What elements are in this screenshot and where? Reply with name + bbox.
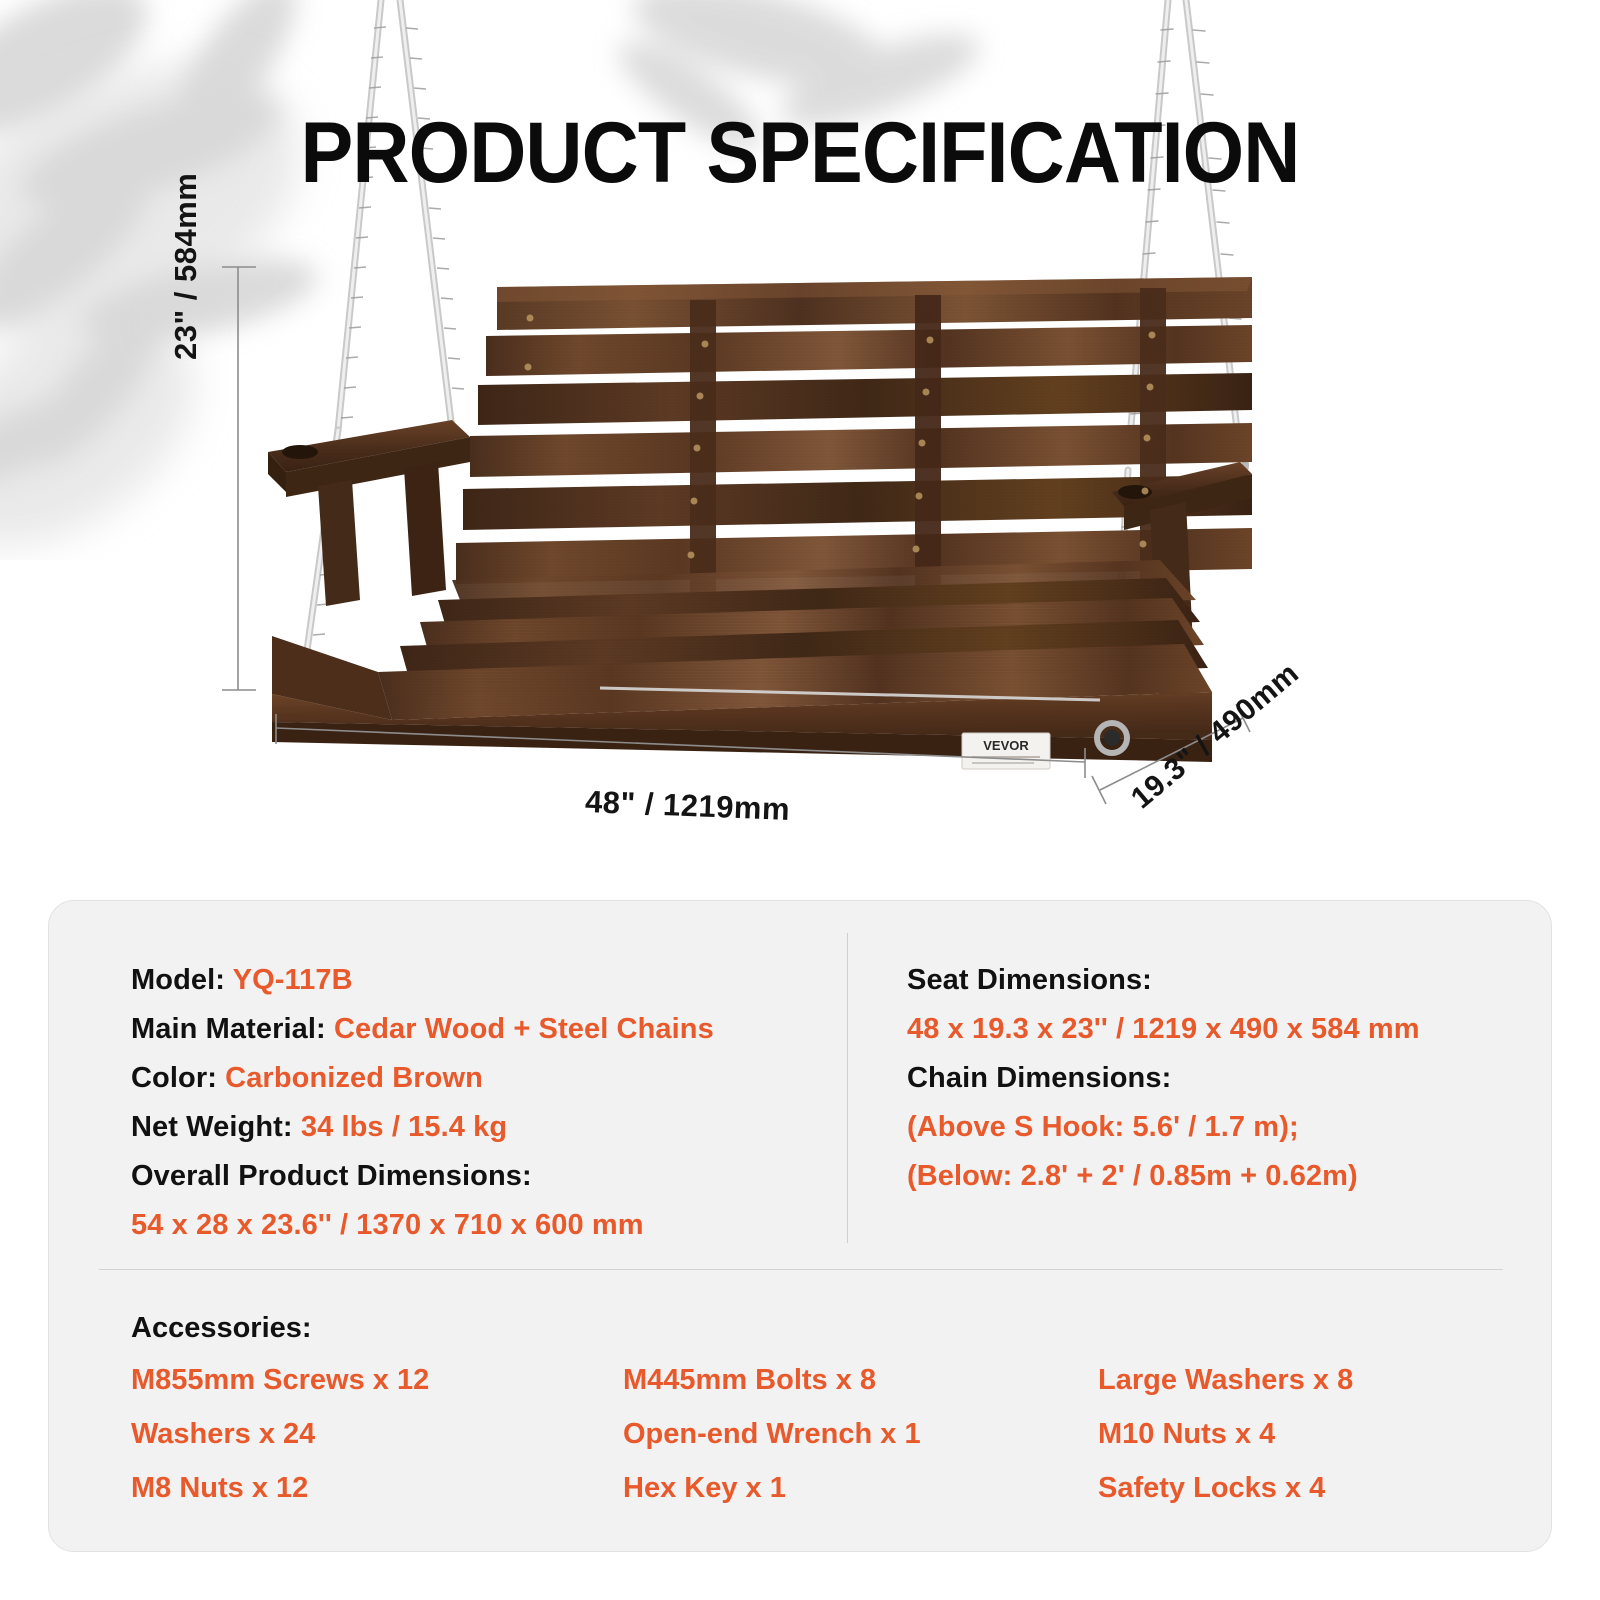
vevor-label-text: VEVOR xyxy=(983,738,1029,753)
spec-value-model: YQ-117B xyxy=(233,964,353,996)
accessory-item: M855mm Screws x 12 xyxy=(131,1364,623,1397)
accessory-item: Open-end Wrench x 1 xyxy=(623,1418,1098,1451)
specification-panel: Model: YQ-117B Main Material: Cedar Wood… xyxy=(48,900,1552,1552)
spec-label-net-weight: Net Weight: xyxy=(131,1111,293,1143)
spec-value-color: Carbonized Brown xyxy=(225,1062,483,1094)
accessory-item: M445mm Bolts x 8 xyxy=(623,1364,1098,1397)
spec-label-material: Main Material: xyxy=(131,1013,326,1045)
spec-value-overall-dimensions: 54 x 28 x 23.6'' / 1370 x 710 x 600 mm xyxy=(131,1201,847,1250)
spec-value-net-weight: 34 lbs / 15.4 kg xyxy=(301,1111,507,1143)
accessories-title: Accessories: xyxy=(131,1312,1551,1345)
spec-column-right: Seat Dimensions: 48 x 19.3 x 23'' / 1219… xyxy=(847,901,1551,1269)
spec-top-section: Model: YQ-117B Main Material: Cedar Wood… xyxy=(49,901,1551,1269)
spec-value-chain-below: (Below: 2.8' + 2' / 0.85m + 0.62m) xyxy=(907,1152,1551,1201)
accessories-grid: M855mm Screws x 12 M445mm Bolts x 8 Larg… xyxy=(131,1364,1551,1505)
accessory-item: Safety Locks x 4 xyxy=(1098,1472,1551,1505)
accessories-section: Accessories: M855mm Screws x 12 M445mm B… xyxy=(49,1270,1551,1505)
accessory-item: Hex Key x 1 xyxy=(623,1472,1098,1505)
spec-label-seat-dimensions: Seat Dimensions: xyxy=(907,956,1551,1005)
spec-row-model: Model: YQ-117B xyxy=(131,956,847,1005)
bench-back xyxy=(456,277,1252,608)
accessory-item: Washers x 24 xyxy=(131,1418,623,1451)
spec-value-seat-dimensions: 48 x 19.3 x 23'' / 1219 x 490 x 584 mm xyxy=(907,1005,1551,1054)
vevor-brand-label: VEVOR xyxy=(962,733,1050,769)
accessory-item: M8 Nuts x 12 xyxy=(131,1472,623,1505)
spec-column-left: Model: YQ-117B Main Material: Cedar Wood… xyxy=(49,901,847,1269)
spec-label-chain-dimensions: Chain Dimensions: xyxy=(907,1054,1551,1103)
accessory-item: Large Washers x 8 xyxy=(1098,1364,1551,1397)
spec-value-material: Cedar Wood + Steel Chains xyxy=(334,1013,714,1045)
dimension-label-height: 23" / 584mm xyxy=(168,173,204,360)
page-title: PRODUCT SPECIFICATION xyxy=(64,104,1536,203)
accessory-item: M10 Nuts x 4 xyxy=(1098,1418,1551,1451)
armrest-left xyxy=(268,420,470,606)
spec-vertical-divider xyxy=(847,933,848,1243)
spec-label-color: Color: xyxy=(131,1062,217,1094)
spec-label-overall-dimensions: Overall Product Dimensions: xyxy=(131,1152,847,1201)
spec-label-model: Model: xyxy=(131,964,225,996)
spec-row-color: Color: Carbonized Brown xyxy=(131,1054,847,1103)
spec-row-material: Main Material: Cedar Wood + Steel Chains xyxy=(131,1005,847,1054)
spec-row-net-weight: Net Weight: 34 lbs / 15.4 kg xyxy=(131,1103,847,1152)
spec-value-chain-above: (Above S Hook: 5.6' / 1.7 m); xyxy=(907,1103,1551,1152)
